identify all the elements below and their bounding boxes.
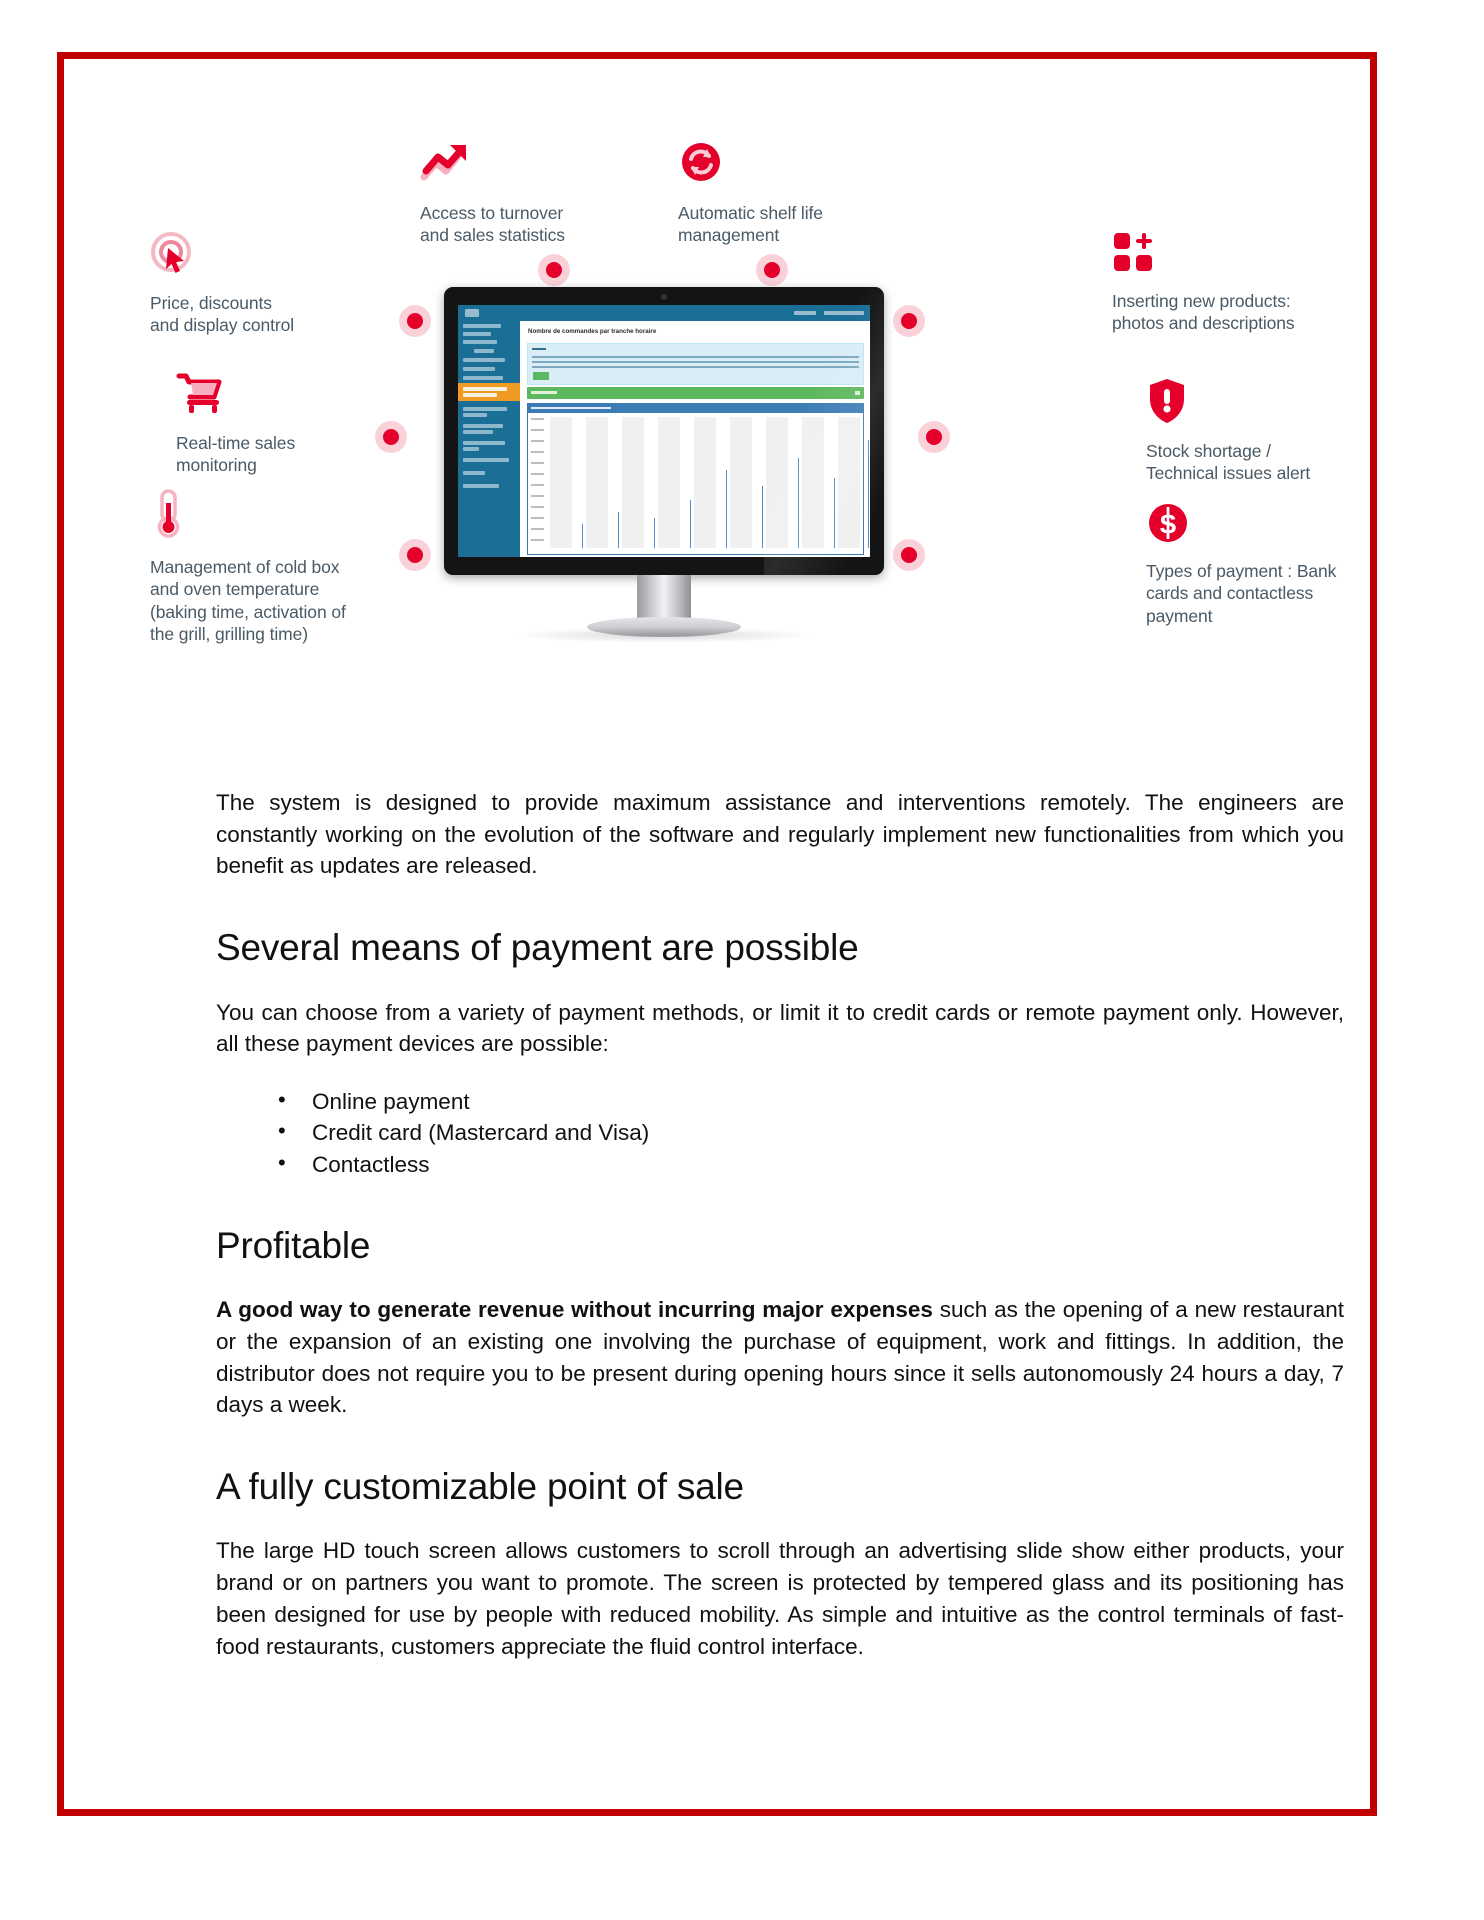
- sidebar-item[interactable]: [463, 376, 503, 380]
- sidebar-subitem[interactable]: [463, 430, 493, 434]
- monitor-bezel: Nombre de commandes par tranche horaire: [444, 287, 884, 575]
- dashboard-title: Nombre de commandes par tranche horaire: [528, 328, 656, 335]
- sidebar-item[interactable]: [463, 332, 491, 336]
- feature-label: Management of cold box and oven temperat…: [150, 556, 400, 646]
- heading-customizable-pos: A fully customizable point of sale: [216, 1465, 1344, 1509]
- profitable-paragraph: A good way to generate revenue without i…: [216, 1294, 1344, 1421]
- page-red-border: Price, discounts and display control Rea…: [57, 52, 1377, 1816]
- payment-paragraph: You can choose from a variety of payment…: [216, 997, 1344, 1060]
- connector-dot: [399, 539, 431, 571]
- feature-label: Types of payment : Bank cards and contac…: [1146, 560, 1386, 627]
- chart-panel: [527, 403, 864, 555]
- connector-dot: [399, 305, 431, 337]
- feature-temperature-management: Management of cold box and oven temperat…: [150, 487, 400, 646]
- feature-label: Inserting new products: photos and descr…: [1112, 290, 1352, 335]
- monitor-mockup: Nombre de commandes par tranche horaire: [444, 287, 884, 627]
- connector-dot: [893, 539, 925, 571]
- feature-label: Real-time sales monitoring: [176, 432, 406, 477]
- monitor-screen: Nombre de commandes par tranche horaire: [458, 305, 870, 557]
- connector-dot: [756, 254, 788, 286]
- connector-dot: [918, 421, 950, 453]
- sidebar-subitem[interactable]: [474, 349, 494, 353]
- sidebar-subitem[interactable]: [463, 407, 507, 411]
- document-body: The system is designed to provide maximu…: [216, 787, 1344, 1662]
- dashboard-sidebar[interactable]: [458, 321, 520, 557]
- sidebar-active-label: [463, 387, 507, 391]
- sidebar-subitem[interactable]: [463, 458, 509, 462]
- sidebar-subitem[interactable]: [463, 441, 505, 445]
- heading-payment-means: Several means of payment are possible: [216, 926, 1344, 970]
- sidebar-item[interactable]: [463, 358, 505, 362]
- feature-realtime-sales: Real-time sales monitoring: [176, 371, 406, 477]
- list-item: Credit card (Mastercard and Visa): [278, 1117, 1344, 1148]
- pos-paragraph: The large HD touch screen allows custome…: [216, 1535, 1344, 1662]
- document-page: Price, discounts and display control Rea…: [0, 0, 1484, 1920]
- feature-label: Price, discounts and display control: [150, 292, 380, 337]
- notice-action-button[interactable]: [533, 372, 549, 380]
- feature-label: Access to turnover and sales statistics: [420, 202, 640, 247]
- sidebar-item[interactable]: [463, 367, 495, 371]
- sidebar-item[interactable]: [463, 324, 501, 328]
- feature-price-discounts: Price, discounts and display control: [150, 231, 380, 337]
- dashboard-main: Nombre de commandes par tranche horaire: [520, 321, 870, 557]
- dashboard-notice: [527, 343, 864, 385]
- list-item: Contactless: [278, 1149, 1344, 1180]
- sidebar-item[interactable]: [463, 484, 499, 488]
- connector-dot: [538, 254, 570, 286]
- monitor-shadow: [514, 627, 814, 643]
- profitable-bold-lead: A good way to generate revenue without i…: [216, 1297, 933, 1322]
- intro-paragraph: The system is designed to provide maximu…: [216, 787, 1344, 882]
- dollar-coin-icon: S: [1146, 501, 1386, 550]
- sidebar-item-active[interactable]: [458, 383, 520, 401]
- dashboard-topbar: [458, 305, 870, 321]
- thermometer-icon: [150, 487, 400, 546]
- list-item: Online payment: [278, 1086, 1344, 1117]
- refresh-cycle-icon: [678, 141, 908, 192]
- feature-payment-types: S Types of payment : Bank cards and cont…: [1146, 501, 1386, 627]
- click-target-icon: [150, 231, 380, 282]
- sidebar-active-label: [463, 393, 497, 397]
- sidebar-subitem[interactable]: [463, 471, 485, 475]
- connector-dot: [375, 421, 407, 453]
- app-logo-icon: [465, 309, 479, 317]
- filter-bar[interactable]: [527, 387, 864, 399]
- sidebar-subitem[interactable]: [463, 424, 503, 428]
- feature-label: Automatic shelf life management: [678, 202, 908, 247]
- topbar-account-item[interactable]: [824, 311, 864, 315]
- connector-dot: [893, 305, 925, 337]
- feature-stock-alert: Stock shortage / Technical issues alert: [1146, 377, 1376, 485]
- sidebar-item[interactable]: [463, 340, 497, 344]
- feature-turnover-statistics: Access to turnover and sales statistics: [420, 141, 640, 247]
- alert-shield-icon: [1146, 377, 1376, 430]
- add-products-grid-icon: [1112, 231, 1352, 280]
- sidebar-subitem[interactable]: [463, 447, 479, 451]
- payment-methods-list: Online payment Credit card (Mastercard a…: [216, 1086, 1344, 1180]
- trending-up-icon: [420, 141, 640, 192]
- sidebar-subitem[interactable]: [463, 413, 487, 417]
- chart-panel-header: [528, 404, 863, 413]
- feature-shelf-life-management: Automatic shelf life management: [678, 141, 908, 247]
- chevron-down-icon[interactable]: [855, 391, 860, 395]
- feature-label: Stock shortage / Technical issues alert: [1146, 440, 1376, 485]
- orders-by-hour-chart: [528, 413, 863, 554]
- monitor-neck: [637, 575, 691, 623]
- dashboard-app: Nombre de commandes par tranche horaire: [458, 305, 870, 557]
- heading-profitable: Profitable: [216, 1224, 1344, 1268]
- shopping-cart-icon: [176, 371, 406, 422]
- topbar-user-item[interactable]: [794, 311, 816, 315]
- feature-inserting-products: Inserting new products: photos and descr…: [1112, 231, 1352, 335]
- feature-infographic: Price, discounts and display control Rea…: [128, 119, 1434, 774]
